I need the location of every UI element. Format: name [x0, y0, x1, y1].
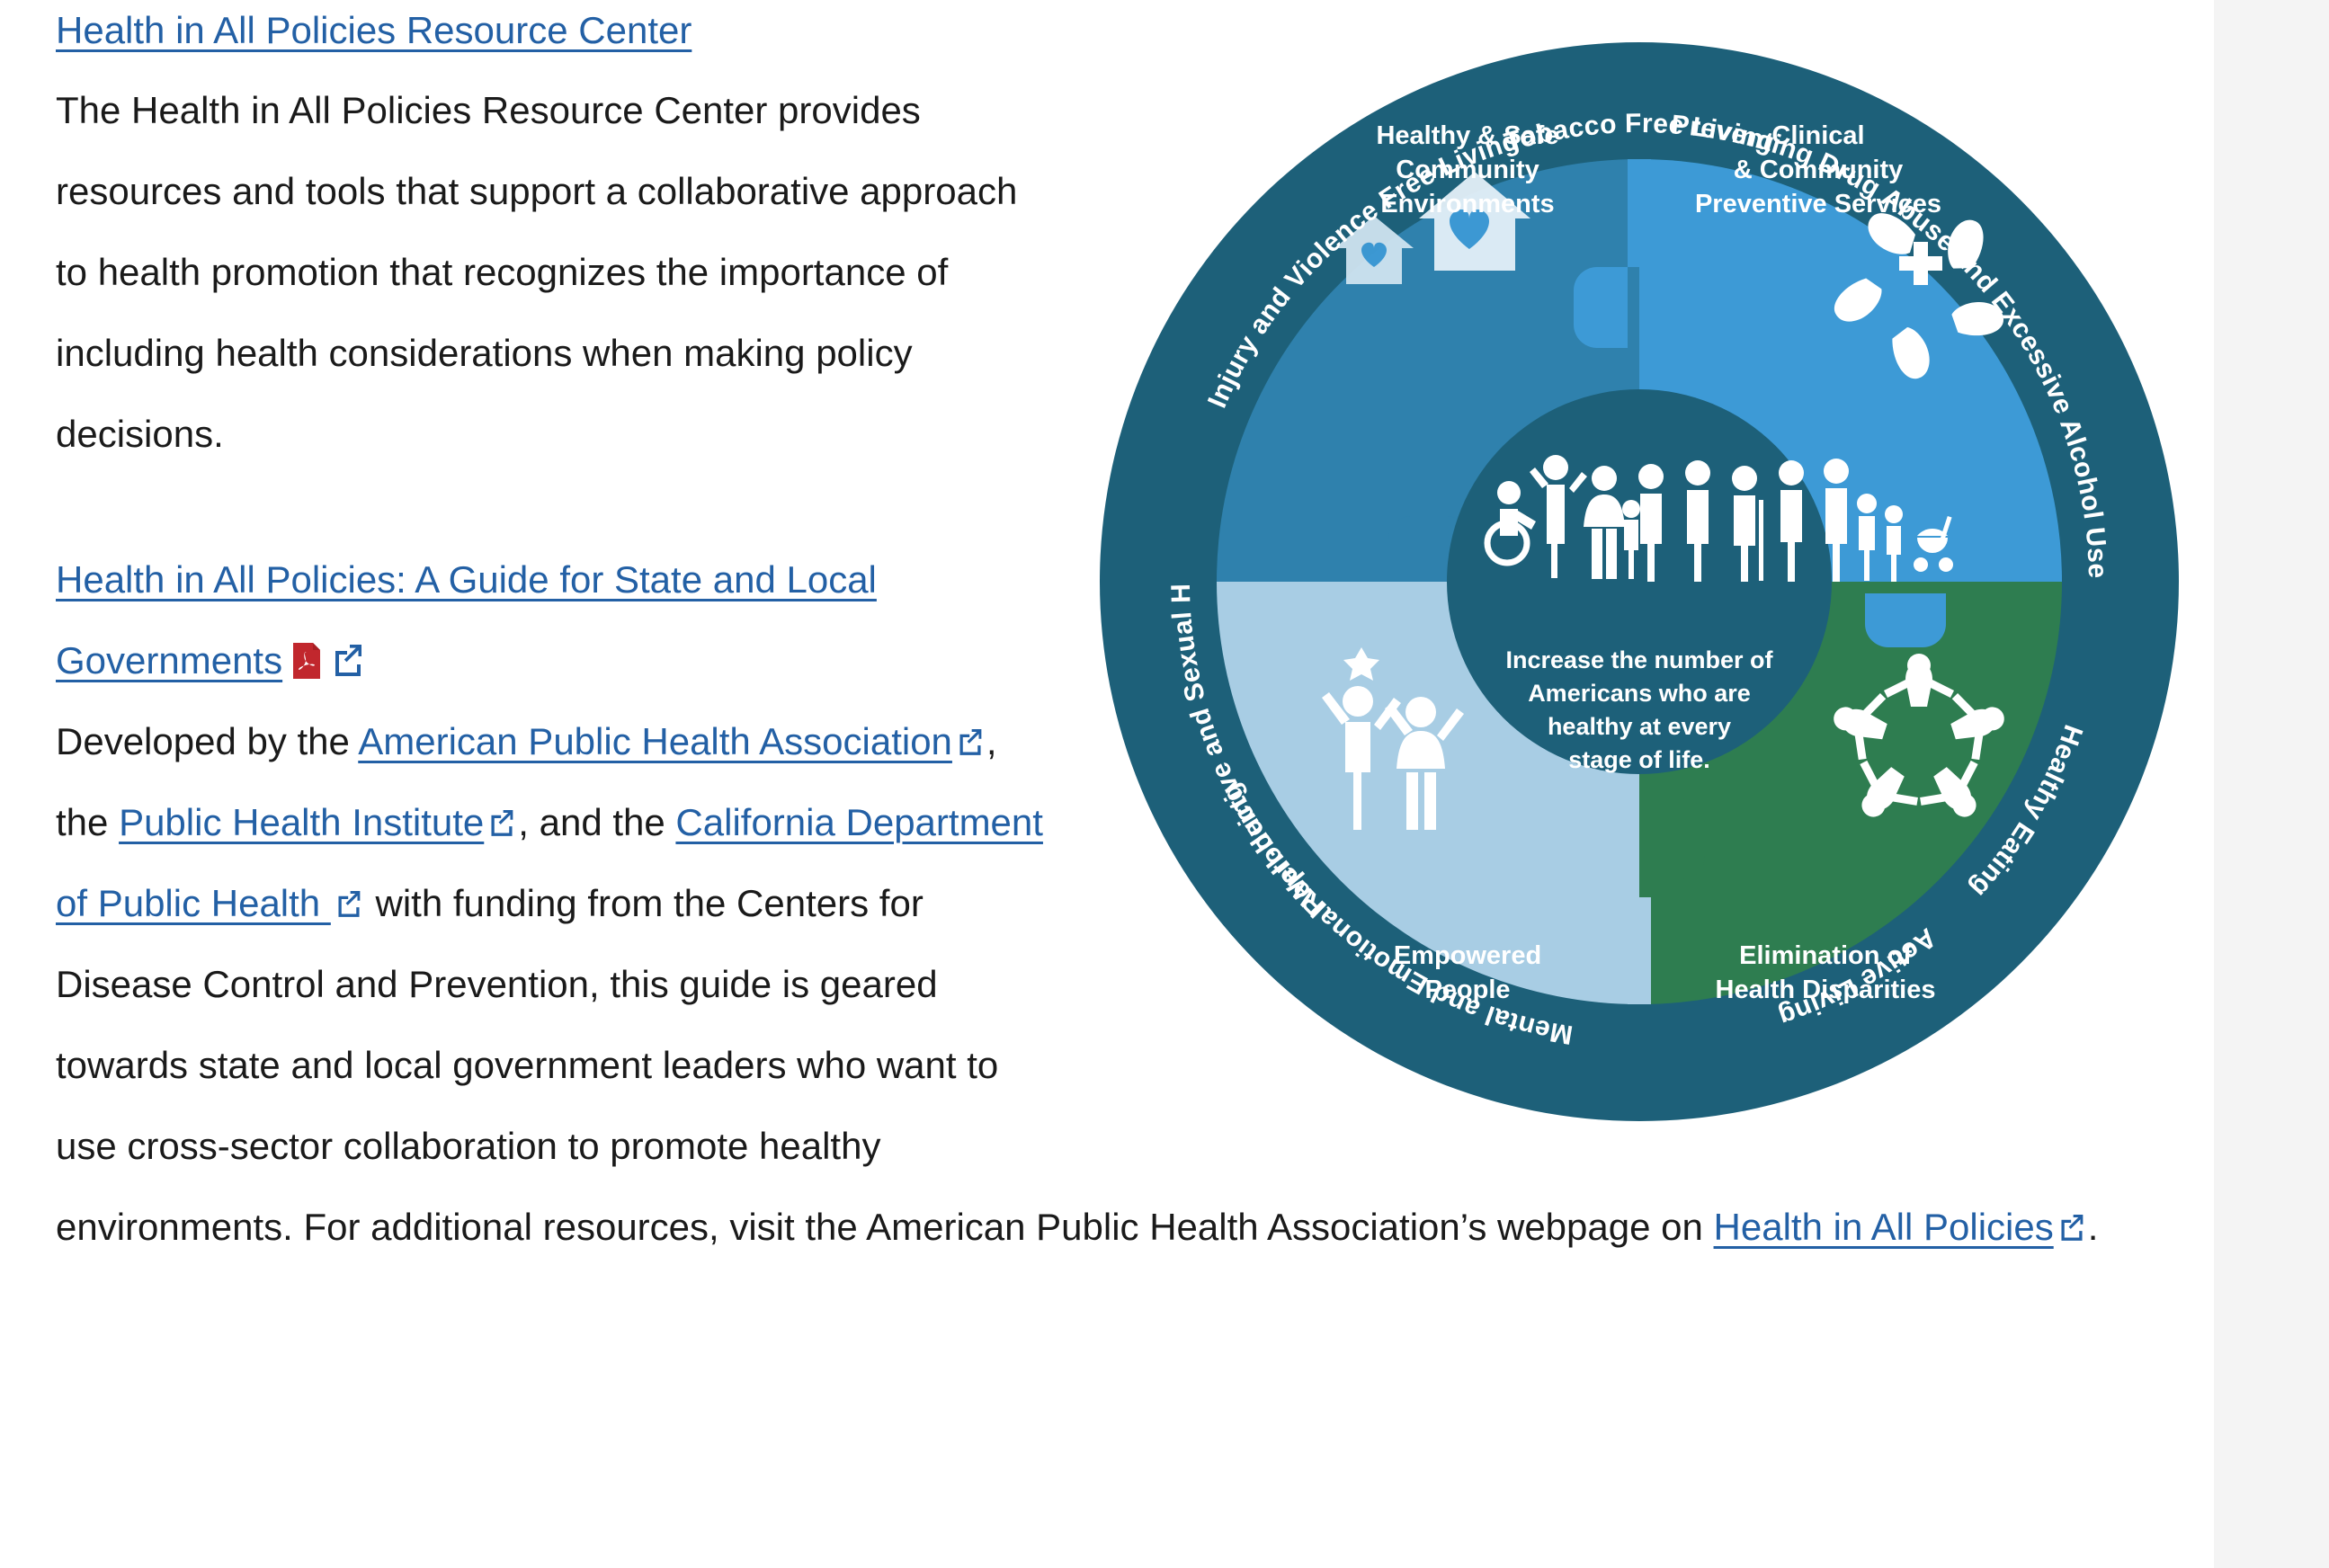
conjunction-the-2: , and the	[518, 801, 675, 843]
national-prevention-strategy-wheel: Increase the number of Americans who are…	[1065, 7, 2214, 1156]
svg-text:healthy at every: healthy at every	[1548, 713, 1731, 740]
guide-link[interactable]: Health in All Policies: A Guide for Stat…	[56, 558, 877, 682]
period: .	[2088, 1206, 2099, 1248]
svg-text:Increase the number of: Increase the number of	[1505, 646, 1773, 673]
svg-text:stage of life.: stage of life.	[1568, 746, 1710, 773]
external-link-icon[interactable]	[336, 889, 361, 918]
external-link-icon[interactable]	[333, 643, 363, 677]
developed-by-text: Developed by the	[56, 720, 358, 762]
svg-text:Americans who are: Americans who are	[1528, 680, 1751, 707]
external-link-icon[interactable]	[2059, 1213, 2084, 1242]
resource-center-link[interactable]: Health in All Policies Resource Center	[56, 9, 692, 51]
hiap-webpage-link[interactable]: Health in All Policies	[1714, 1206, 2054, 1248]
right-gutter-panel	[2214, 0, 2329, 1568]
external-link-icon[interactable]	[489, 808, 514, 837]
external-link-icon[interactable]	[958, 727, 983, 756]
apha-link[interactable]: American Public Health Association	[358, 720, 952, 762]
phi-link[interactable]: Public Health Institute	[119, 801, 484, 843]
page-root: Health in All Policies Resource Center T…	[0, 0, 2329, 1568]
pdf-icon[interactable]	[293, 643, 320, 679]
